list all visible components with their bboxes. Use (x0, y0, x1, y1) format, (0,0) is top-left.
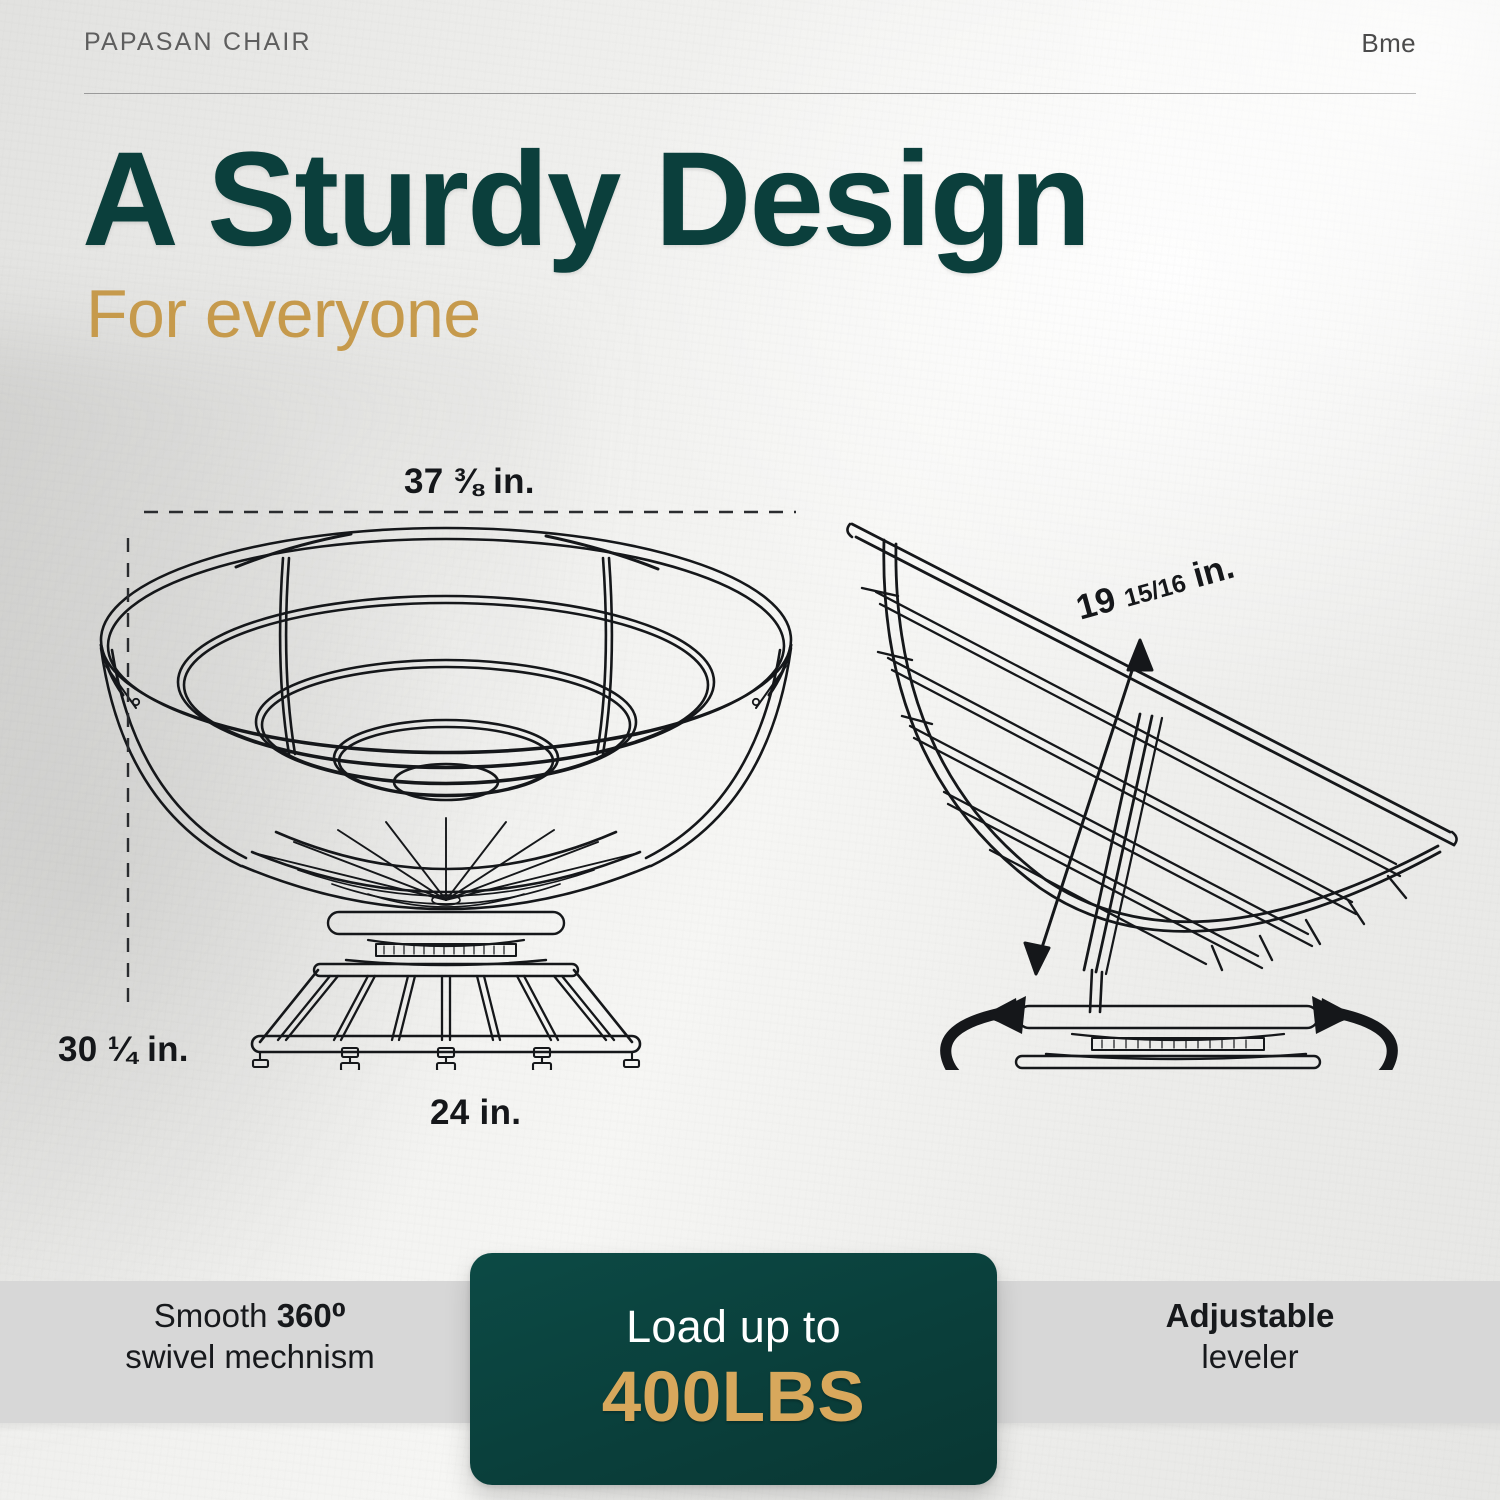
page-header: PAPASAN CHAIR Bme (84, 28, 1416, 96)
feature-swivel-prefix: Smooth (154, 1297, 277, 1334)
feature-swivel-degrees: 360⁰ (277, 1297, 347, 1334)
feature-swivel-line2: swivel mechnism (40, 1337, 460, 1378)
dimension-label-base-width: 24 in. (430, 1093, 521, 1133)
dimension-label-width: 37 ⅜ in. (404, 462, 535, 502)
page-title: A Sturdy Design (82, 133, 1089, 267)
feature-swivel: Smooth 360⁰ swivel mechnism (40, 1296, 460, 1378)
page-subtitle: For everyone (86, 280, 481, 348)
load-capacity-caption: Load up to (626, 1301, 841, 1353)
feature-leveler-line2: leveler (1040, 1337, 1460, 1378)
product-category-label: PAPASAN CHAIR (84, 28, 312, 57)
feature-leveler: Adjustable leveler (1040, 1296, 1460, 1378)
infographic-page: PAPASAN CHAIR Bme A Sturdy Design For ev… (0, 0, 1500, 1500)
dimension-label-height: 30 ¼ in. (58, 1030, 189, 1070)
papasan-chair-front-view-drawing (46, 470, 846, 1070)
brand-logo: Bme (1361, 28, 1416, 59)
load-capacity-value: 400LBS (602, 1357, 865, 1438)
feature-swivel-line1: Smooth 360⁰ (40, 1296, 460, 1337)
feature-leveler-line1: Adjustable (1040, 1296, 1460, 1337)
header-divider (84, 93, 1416, 94)
load-capacity-badge: Load up to 400LBS (470, 1253, 997, 1485)
